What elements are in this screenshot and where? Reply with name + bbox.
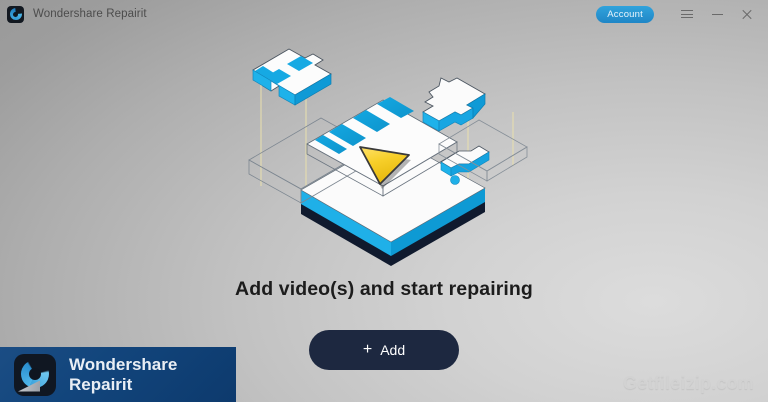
hamburger-menu-icon [681, 8, 693, 21]
hamburger-menu-button[interactable] [672, 0, 702, 28]
brand-name-line2: Repairit [69, 375, 177, 394]
app-title: Wondershare Repairit [33, 8, 147, 20]
close-button[interactable] [732, 0, 762, 28]
add-button-label: Add [380, 342, 405, 358]
hero-illustration [243, 34, 533, 266]
close-icon [741, 8, 753, 20]
title-bar: Wondershare Repairit Account [0, 0, 768, 28]
minimize-icon [712, 14, 723, 15]
account-button[interactable]: Account [596, 6, 654, 23]
brand-name-line1: Wondershare [69, 355, 177, 374]
app-icon-swoosh [10, 8, 22, 20]
wondershare-repairit-logo-icon [14, 354, 56, 396]
brand-watermark: Wondershare Repairit [0, 347, 236, 402]
add-button[interactable]: + Add [309, 330, 459, 370]
minimize-button[interactable] [702, 0, 732, 28]
application-window: Wondershare Repairit Account [0, 0, 768, 402]
plus-icon: + [363, 342, 372, 358]
app-icon [7, 6, 24, 23]
brand-name: Wondershare Repairit [69, 355, 177, 393]
page-title: Add video(s) and start repairing [0, 278, 768, 301]
site-watermark: Getfileizip.com [623, 373, 754, 394]
